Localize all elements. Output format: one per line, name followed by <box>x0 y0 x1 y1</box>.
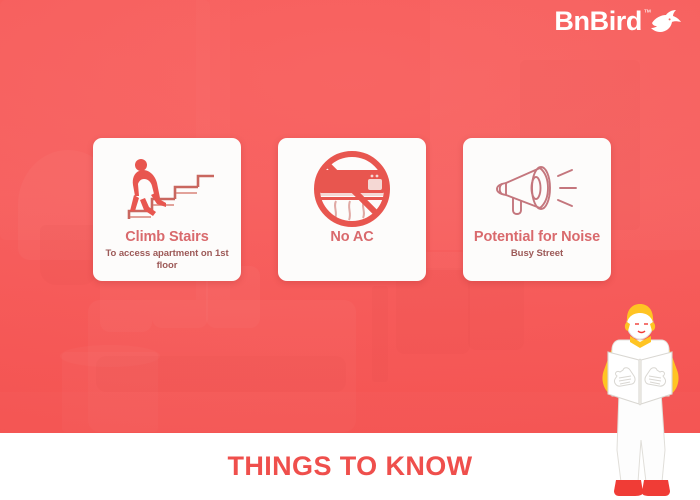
bird-icon <box>648 9 682 35</box>
brand-name-text: BnBird <box>554 6 642 36</box>
info-card-potential-noise[interactable]: Potential for Noise Busy Street <box>463 138 611 281</box>
brand-name: BnBird™ <box>554 8 642 35</box>
info-card-list: Climb Stairs To access apartment on 1st … <box>93 138 611 281</box>
info-card-title: No AC <box>330 229 373 246</box>
info-card-no-ac[interactable]: No AC <box>278 138 426 281</box>
stairs-climb-icon <box>114 151 220 227</box>
info-card-subtitle: To access apartment on 1st floor <box>93 248 241 272</box>
info-card-subtitle: Busy Street <box>501 248 573 260</box>
trademark-symbol: ™ <box>643 9 651 17</box>
poster-canvas: BnBird™ <box>0 0 700 500</box>
page-title: THINGS TO KNOW <box>227 451 472 482</box>
no-air-conditioner-icon <box>302 151 402 227</box>
info-card-title: Potential for Noise <box>474 229 600 246</box>
info-card-climb-stairs[interactable]: Climb Stairs To access apartment on 1st … <box>93 138 241 281</box>
megaphone-noise-icon <box>484 151 590 227</box>
brand-logo[interactable]: BnBird™ <box>554 8 682 35</box>
info-card-title: Climb Stairs <box>125 229 208 246</box>
person-reading-book-illustration <box>586 300 694 500</box>
